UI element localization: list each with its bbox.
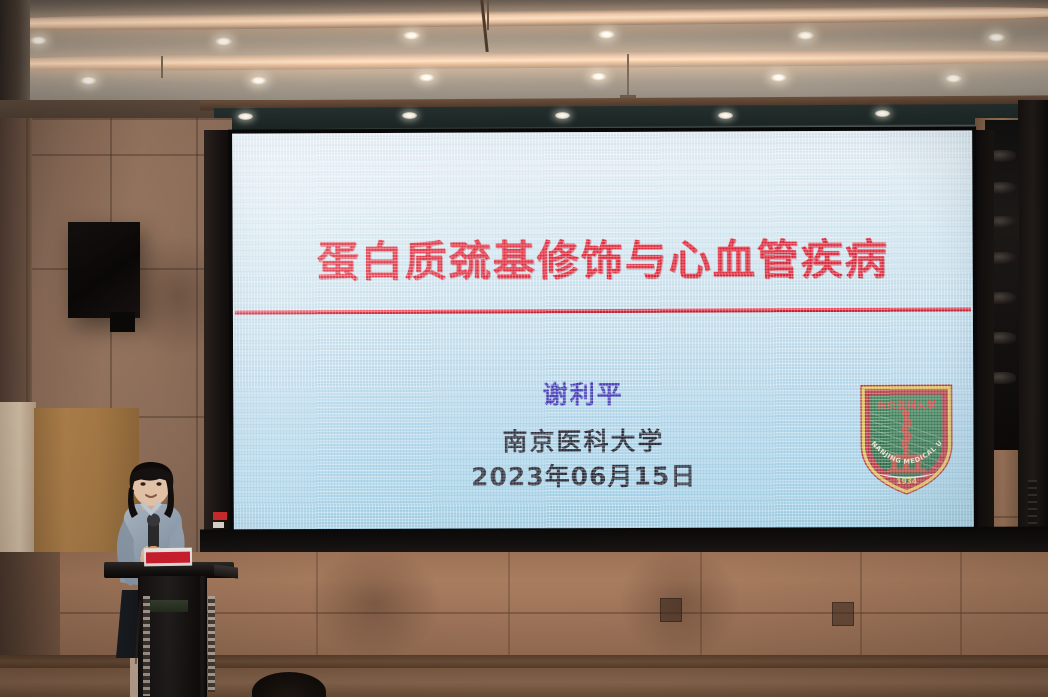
downlight-icon xyxy=(403,31,420,40)
downlight-icon xyxy=(718,112,733,119)
cove-light-lower xyxy=(0,48,1048,72)
slide-date: 2023年06月15日 xyxy=(234,456,934,495)
podium-cable-strap xyxy=(143,596,150,696)
led-screen[interactable]: 蛋白质巯基修饰与心血管疾病 谢利平 南京医科大学 2023年06月15日 xyxy=(232,130,974,531)
downlight-icon xyxy=(238,113,253,120)
university-logo: 南京医科大学 xyxy=(858,382,954,494)
downlight-icon xyxy=(797,31,814,40)
downlight-icon xyxy=(215,37,232,46)
downlight-icon xyxy=(418,73,435,82)
ceiling xyxy=(0,0,1048,108)
podium-body xyxy=(142,576,200,697)
wall-speaker-left-mount xyxy=(110,312,135,332)
slide-presenter-name: 谢利平 xyxy=(233,374,933,413)
hanging-wire xyxy=(161,56,163,78)
wall-outlet-icon xyxy=(660,598,682,622)
downlight-icon xyxy=(598,30,615,39)
wall-outlet-icon xyxy=(832,602,854,626)
podium-sign-banner xyxy=(146,552,190,564)
downlight-icon xyxy=(250,76,267,85)
ceiling-corner-shadow xyxy=(0,0,30,108)
podium-cable-strap xyxy=(208,596,215,692)
slide-title: 蛋白质巯基修饰与心血管疾病 xyxy=(233,225,973,289)
downlight-icon xyxy=(555,112,570,119)
lecture-hall-scene: 蛋白质巯基修饰与心血管疾病 谢利平 南京医科大学 2023年06月15日 xyxy=(0,0,1048,697)
wall-speaker-left xyxy=(68,222,140,318)
podium-nameplate xyxy=(150,600,188,612)
podium-sign xyxy=(144,548,192,567)
downlight-icon xyxy=(770,73,787,82)
slide-divider-rule xyxy=(235,307,971,314)
stage-wall-left-return xyxy=(0,552,60,662)
svg-text:1934: 1934 xyxy=(896,477,917,486)
downlight-icon xyxy=(875,110,890,117)
downlight-icon xyxy=(80,76,97,85)
hanging-wire xyxy=(487,0,489,30)
downlight-icon xyxy=(402,112,417,119)
hanging-wire xyxy=(627,54,629,98)
downlight-icon xyxy=(30,36,47,45)
downlight-icon xyxy=(988,33,1005,42)
downlight-icon xyxy=(590,72,607,81)
slide-affiliation: 南京医科大学 xyxy=(233,421,933,460)
downlight-icon xyxy=(945,74,962,83)
